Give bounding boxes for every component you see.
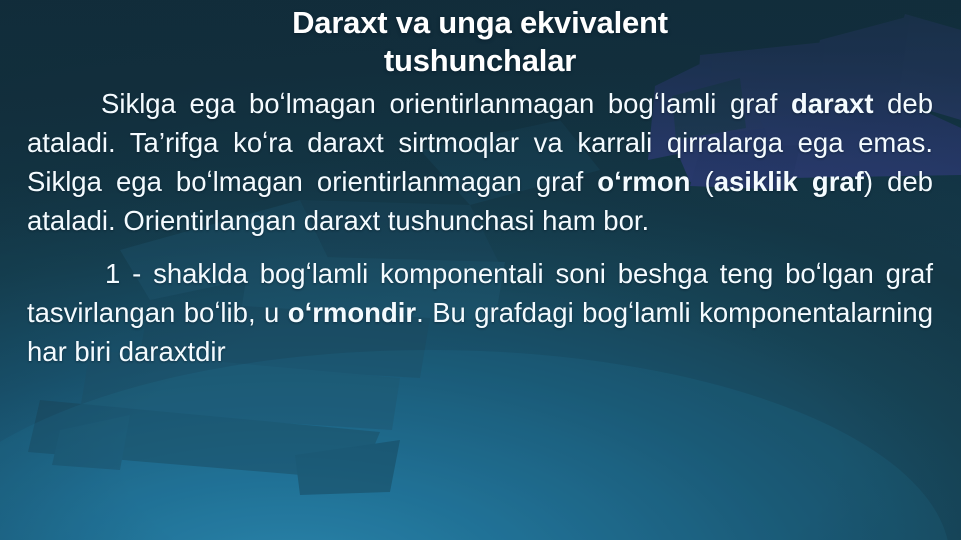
example-paragraph: 1 - shaklda bogʻlamli komponentali soni … <box>27 254 933 371</box>
slide-content: Daraxt va unga ekvivalent tushunchalar S… <box>0 0 961 540</box>
body-text-run: ( <box>690 166 713 197</box>
emphasised-term: oʻrmon <box>597 166 690 197</box>
title-line-2: tushunchalar <box>384 43 576 78</box>
presentation-slide: Daraxt va unga ekvivalent tushunchalar S… <box>0 0 961 540</box>
emphasised-term: daraxt <box>791 88 874 119</box>
emphasised-term: asiklik graf <box>714 166 864 197</box>
title-line-1: Daraxt va unga ekvivalent <box>292 5 668 40</box>
page-title: Daraxt va unga ekvivalent tushunchalar <box>150 4 810 80</box>
body-text-run: Siklga ega boʻlmagan orientirlanmagan bo… <box>101 88 791 119</box>
definition-paragraph: Siklga ega boʻlmagan orientirlanmagan bo… <box>27 84 933 240</box>
slide-body: Siklga ega boʻlmagan orientirlanmagan bo… <box>27 84 933 371</box>
emphasised-term: oʻrmondir <box>288 297 416 328</box>
